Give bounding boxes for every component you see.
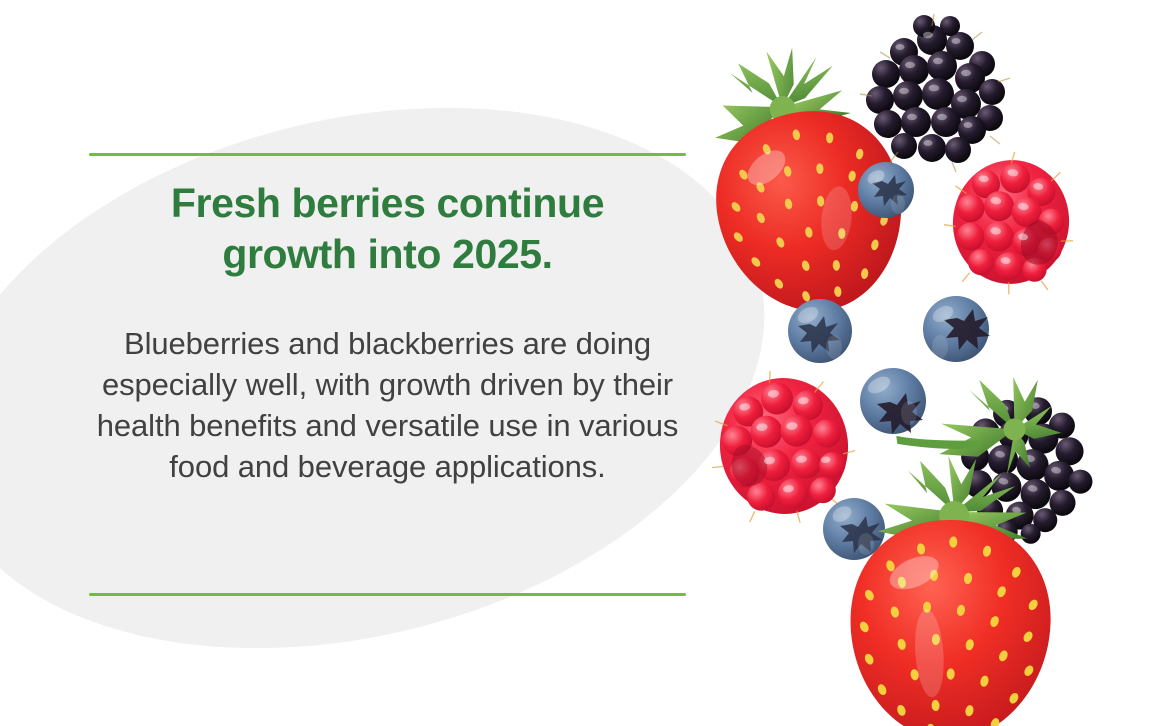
headline-line-2: growth into 2025.: [222, 231, 552, 277]
raspberry-right-highlights: [967, 165, 1045, 268]
raspberry-right-drupelets: [947, 156, 1072, 287]
infographic-canvas: Fresh berries continue growth into 2025.…: [0, 0, 1152, 726]
raspberry-lower-left-highlights: [738, 385, 834, 497]
strawberry-top-body: [700, 95, 922, 329]
blackberry-lower-right: [868, 342, 1111, 555]
strawberry-bottom-seeds: [854, 533, 1041, 726]
blueberry-upper-small-body: [858, 162, 914, 218]
blueberry-center: [860, 368, 926, 434]
blackberry-top-right-drupelets: [866, 15, 1005, 163]
top-divider: [89, 153, 686, 156]
blueberry-lower-left-calyx: [840, 516, 882, 553]
blueberry-mid-right-calyx: [944, 309, 990, 350]
blueberry-mid-right-body: [923, 296, 989, 362]
blueberry-mid-right: [923, 296, 990, 362]
raspberry-lower-left-body: [713, 372, 855, 521]
strawberry-top: [686, 30, 921, 328]
raspberry-lower-left-hairs: [702, 363, 861, 531]
strawberry-bottom: [846, 453, 1056, 726]
blueberry-mid-left-body: [788, 299, 852, 363]
blackberry-lower-right-calyx: [890, 370, 1066, 490]
blueberry-center-body: [860, 368, 926, 434]
blueberry-center-calyx: [877, 393, 923, 434]
body-paragraph: Blueberries and blackberries are doing e…: [60, 281, 715, 488]
blackberry-lower-right-drupelets: [948, 386, 1106, 556]
raspberry-right: [936, 143, 1084, 302]
strawberry-bottom-body: [846, 517, 1054, 726]
strawberry-top-calyx: [700, 37, 853, 150]
raspberry-lower-left-drupelets: [717, 376, 850, 515]
blueberry-lower-left: [823, 498, 885, 560]
blueberry-upper-small-calyx: [872, 175, 907, 206]
text-block: Fresh berries continue growth into 2025.…: [60, 178, 715, 487]
blueberry-mid-left-calyx: [798, 316, 840, 353]
page-title: Fresh berries continue growth into 2025.: [60, 178, 715, 281]
blackberry-lower-right-highlights: [982, 396, 1072, 519]
blueberry-lower-left-body: [823, 498, 885, 560]
blueberry-upper-small: [858, 162, 914, 218]
raspberry-right-body: [945, 153, 1077, 292]
raspberry-lower-left: [702, 363, 861, 531]
headline-line-1: Fresh berries continue: [171, 180, 604, 226]
blueberry-mid-left: [788, 299, 852, 363]
bottom-divider: [89, 593, 686, 596]
strawberry-bottom-calyx: [877, 453, 1030, 542]
raspberry-right-hairs: [936, 143, 1084, 302]
strawberry-top-seeds: [713, 113, 907, 316]
blackberry-top-right-highlights: [896, 32, 973, 146]
blackberry-top-right-hairs: [860, 14, 1010, 172]
blackberry-top-right: [860, 14, 1010, 172]
